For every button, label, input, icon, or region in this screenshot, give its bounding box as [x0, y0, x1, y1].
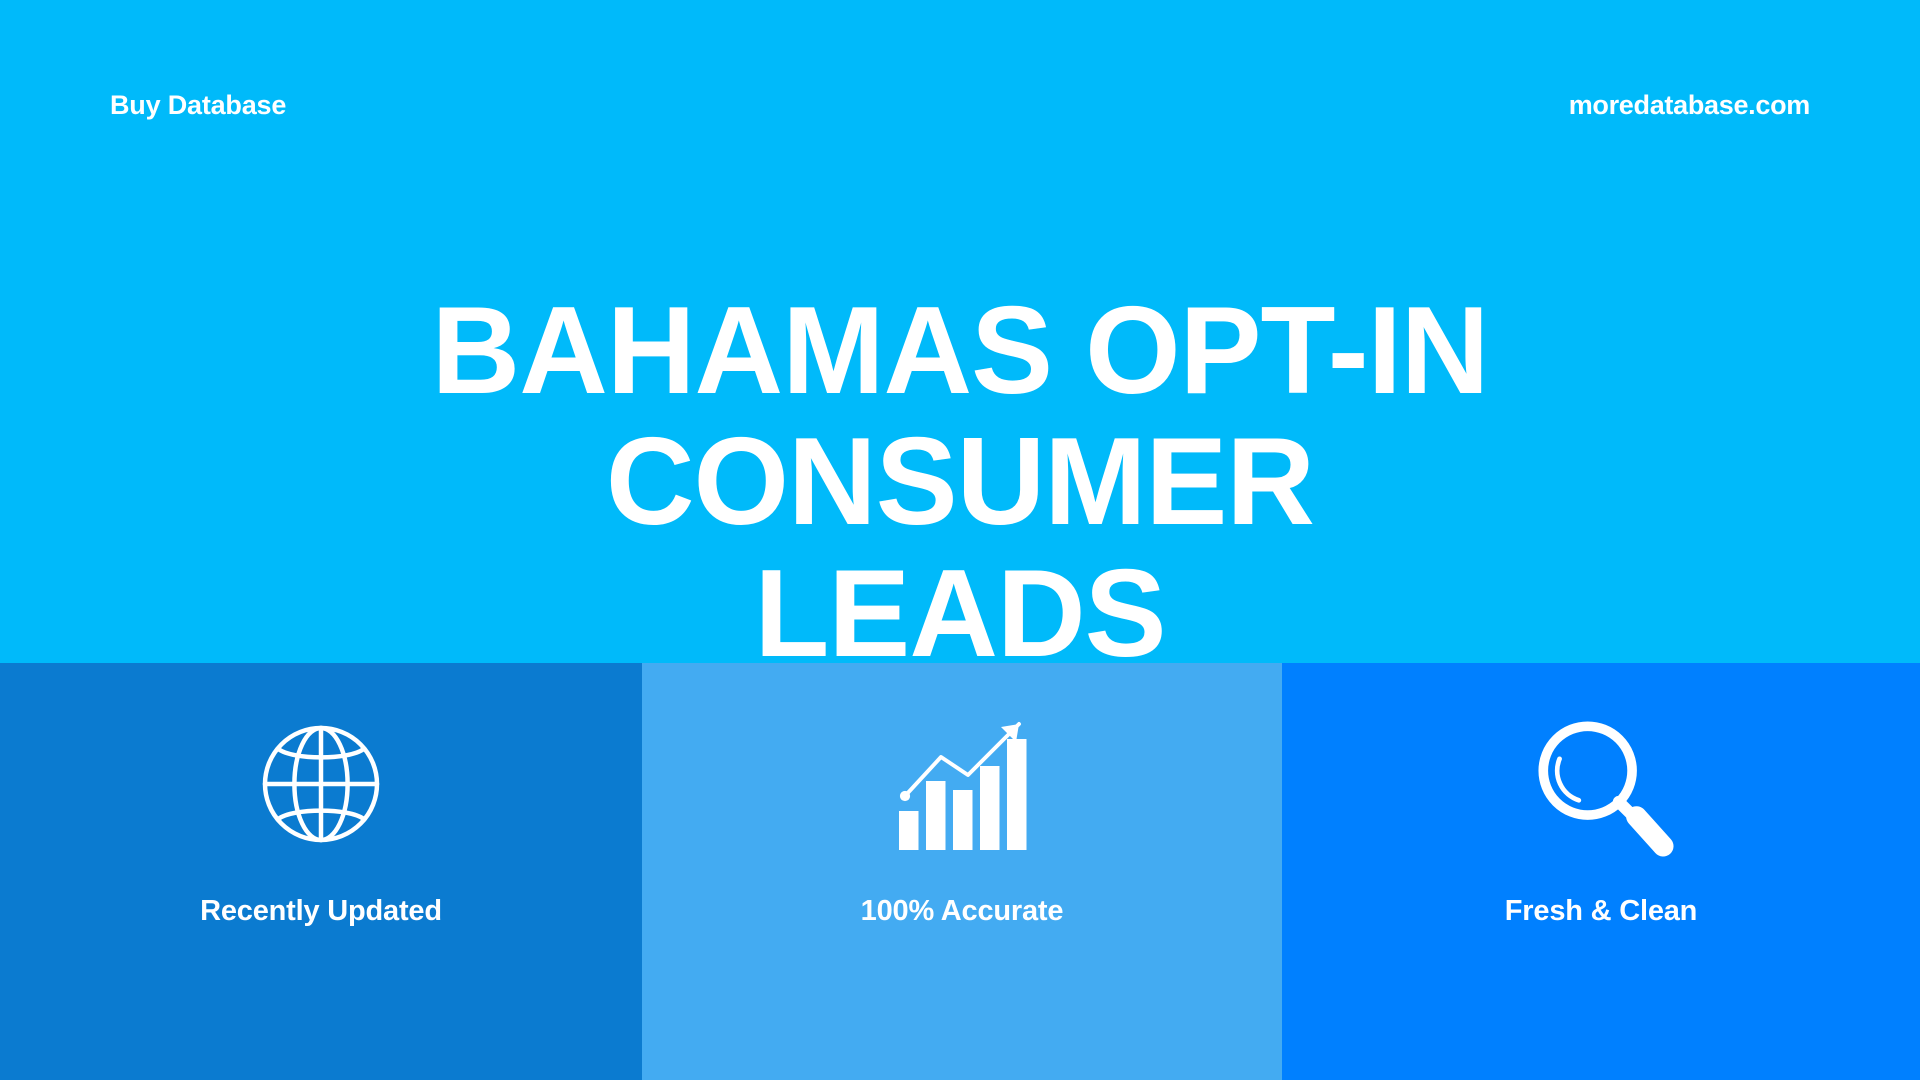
globe-icon: [251, 709, 391, 859]
page-title-line-1: BAHAMAS OPT-IN CONSUMER: [79, 286, 1841, 549]
brand-left-label: Buy Database: [110, 92, 286, 119]
magnifier-icon: [1527, 709, 1675, 859]
growth-chart-icon: [887, 709, 1037, 859]
feature-label-accurate: 100% Accurate: [861, 897, 1064, 926]
feature-card-recently-updated: Recently Updated: [0, 663, 642, 1080]
promo-banner: Buy Database moredatabase.com BAHAMAS OP…: [0, 0, 1920, 1080]
header-band: Buy Database moredatabase.com BAHAMAS OP…: [0, 0, 1920, 663]
feature-label-fresh-clean: Fresh & Clean: [1505, 897, 1697, 926]
feature-strip: Recently Updated: [0, 663, 1920, 1080]
headline-wrap: BAHAMAS OPT-IN CONSUMER LEADS: [0, 286, 1920, 680]
feature-card-accurate: 100% Accurate: [642, 663, 1282, 1080]
feature-card-fresh-clean: Fresh & Clean: [1282, 663, 1920, 1080]
page-title-line-2: LEADS: [79, 549, 1841, 680]
website-url-label: moredatabase.com: [1569, 92, 1810, 119]
top-bar: Buy Database moredatabase.com: [0, 0, 1920, 210]
page-title: BAHAMAS OPT-IN CONSUMER LEADS: [79, 286, 1841, 680]
feature-label-recently-updated: Recently Updated: [200, 897, 442, 926]
